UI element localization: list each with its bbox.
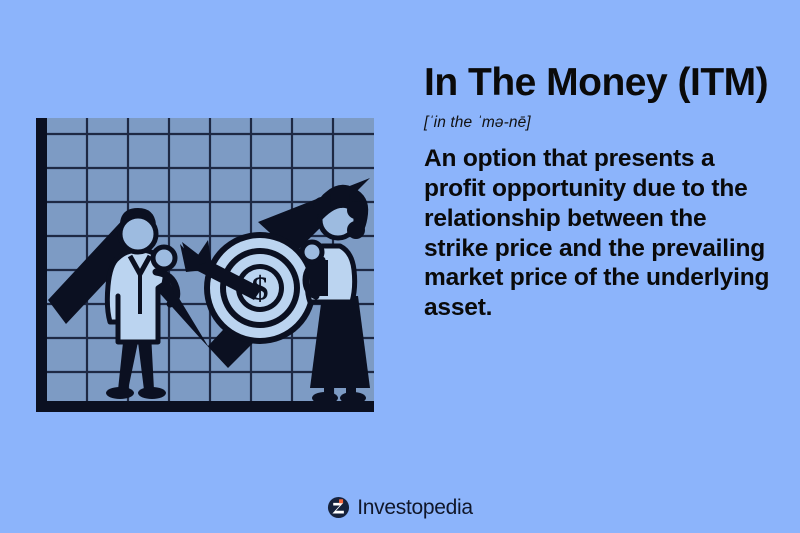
financial-chart-illustration: $	[22, 110, 400, 430]
term-text-panel: In The Money (ITM) [ˈin the ˈmə-nē] An o…	[424, 62, 784, 323]
page-title: In The Money (ITM)	[424, 62, 784, 105]
definition-text: An option that presents a profit opportu…	[424, 144, 776, 323]
definition-card: $	[0, 0, 800, 533]
pronunciation-text: [ˈin the ˈmə-nē]	[424, 114, 784, 132]
investopedia-logo-icon	[327, 496, 350, 519]
brand-wordmark: Investopedia	[357, 497, 473, 518]
brand-lockup: Investopedia	[0, 496, 800, 519]
